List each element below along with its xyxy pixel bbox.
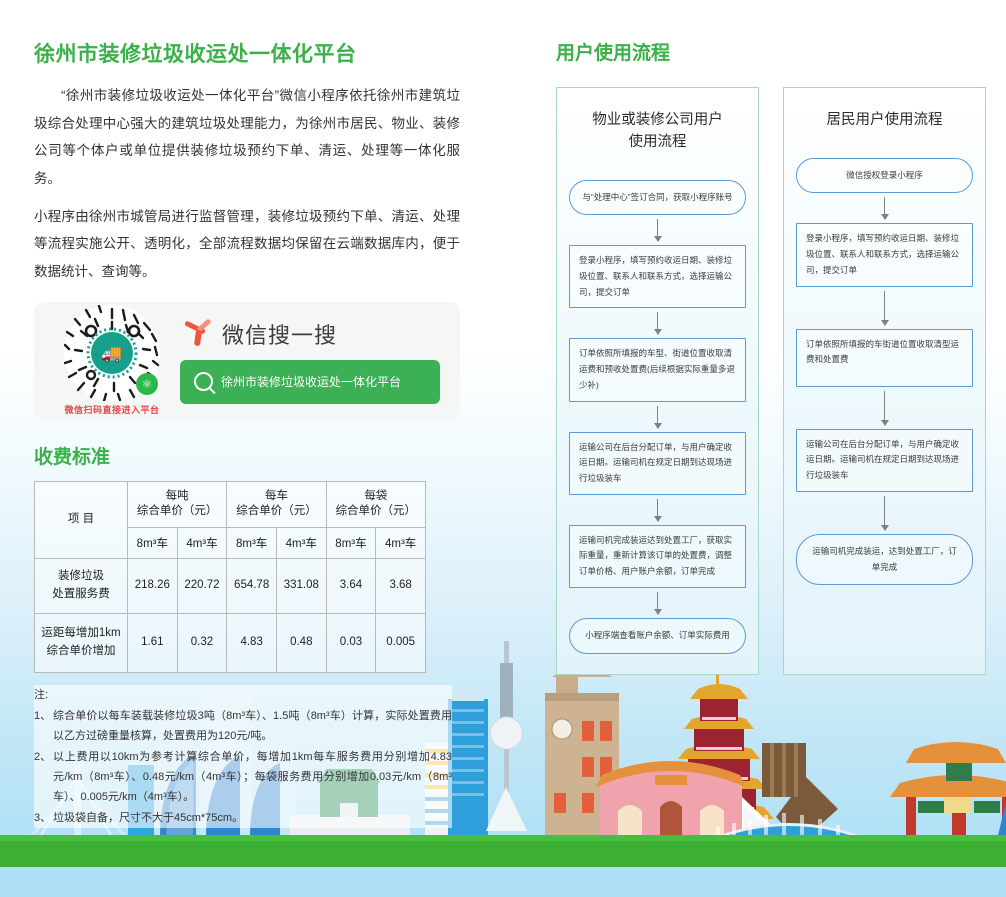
flow-arrow-icon [569,308,746,338]
clock-tower [545,655,619,837]
row-label-1-l1: 运距每增加1km [37,625,125,642]
fee-table: 项 目 每吨 综合单价（元） 每车 综合单价（元） 每袋 综合单价（元） 8m³… [34,481,426,673]
qr-caption: 微信扫码直接进入平台 [64,403,159,416]
wechat-qr-code[interactable]: 🚚 ⚛ [64,305,160,401]
flow-panels: 物业或装修公司用户 使用流程 与“处理中心”签订合同，获取小程序账号 登录小程序… [556,87,986,675]
sub-2-0: 8m³车 [326,527,376,558]
cell-1-5: 0.005 [376,613,426,672]
table-header-row: 项 目 每吨 综合单价（元） 每车 综合单价（元） 每袋 综合单价（元） [35,481,426,527]
flow-node-resident-2[interactable]: 登录小程序，填写预约收运日期、装修垃圾位置、联系人和联系方式，选择运输公司，提交… [796,223,973,286]
group-name-0: 每吨 [130,489,224,505]
header-group-per-ton: 每吨 综合单价（元） [128,481,227,527]
flow-arrow-icon [569,402,746,432]
note-item: 3、 垃圾袋自备，尺寸不大于45cm*75cm。 [34,808,452,828]
intro-paragraph-1: “徐州市装修垃圾收运处一体化平台”微信小程序依托徐州市建筑垃圾综合处理中心强大的… [34,82,460,193]
flow-node-company-2[interactable]: 登录小程序，填写预约收运日期、装修垃圾位置、联系人和联系方式，选择运输公司，提交… [569,245,746,308]
header-group-per-bag: 每袋 综合单价（元） [326,481,425,527]
table-row: 装修垃圾 处置服务费 218.26 220.72 654.78 331.08 3… [35,558,426,613]
wechat-brand-label: 微信搜一搜 [222,318,337,350]
wechat-search-query: 徐州市装修垃圾收运处一体化平台 [221,373,401,390]
note-number-1: 1、 [34,706,53,747]
qr-block: 🚚 ⚛ 微信扫码直接进入平台 [48,305,176,416]
flow-node-resident-5[interactable]: 运输司机完成装运，达到处置工厂，订单完成 [796,534,973,585]
sub-1-0: 8m³车 [227,527,277,558]
sub-2-1: 4m³车 [376,527,426,558]
note-number-3: 3、 [34,808,53,828]
flow-arrow-icon [569,495,746,525]
sub-1-1: 4m³车 [276,527,326,558]
row-label-0-l1: 装修垃圾 [37,568,125,585]
sub-0-0: 8m³车 [128,527,178,558]
table-row: 运距每增加1km 综合单价增加 1.61 0.32 4.83 0.48 0.03… [35,613,426,672]
notes-heading: 注: [34,685,452,705]
flow-node-resident-3[interactable]: 订单依照所填报的车街道位置收取清型运费和处置费 [796,329,973,387]
cell-1-2: 4.83 [227,613,277,672]
flow-node-company-4[interactable]: 运输公司在后台分配订单，与用户确定收运日期。运输司机在规定日期到达现场进行垃圾装… [569,432,746,495]
flow-panel-company: 物业或装修公司用户 使用流程 与“处理中心”签订合同，获取小程序账号 登录小程序… [556,87,759,675]
note-item: 1、 综合单价以每车装载装修垃圾3吨（8m³车）、1.5吨（8m³车）计算，实际… [34,706,452,747]
pagoda [664,655,774,837]
flow-arrow-icon [569,588,746,618]
flow-panel-company-title-l1: 物业或装修公司用户 [569,110,746,132]
flow-arrow-icon [796,287,973,329]
row-label-0: 装修垃圾 处置服务费 [35,558,128,613]
header-item-label: 项 目 [68,513,94,525]
cell-1-1: 0.32 [177,613,227,672]
cell-0-2: 654.78 [227,558,277,613]
group-unit-1: 综合单价（元） [229,504,323,520]
flow-panel-resident-title-l1: 居民用户使用流程 [796,110,973,132]
wechat-entry-card: 🚚 ⚛ 微信扫码直接进入平台 微信搜一搜 徐州市装修垃圾收运处一体化平台 [34,302,460,420]
flow-node-resident-4[interactable]: 运输公司在后台分配订单，与用户确定收运日期。运输司机在规定日期到达现场进行垃圾装… [796,429,973,492]
stadium [996,803,1006,843]
flow-node-company-1[interactable]: 与“处理中心”签订合同，获取小程序账号 [569,180,746,216]
note-item: 2、 以上费用以10km为参考计算综合单价，每增加1km每车服务费用分别增加4.… [34,747,452,808]
wechat-sousou-icon [184,321,214,347]
cell-1-4: 0.03 [326,613,376,672]
wechat-search-block: 微信搜一搜 徐州市装修垃圾收运处一体化平台 [176,318,454,404]
tv-tower [486,641,527,831]
cell-0-4: 3.64 [326,558,376,613]
group-unit-0: 综合单价（元） [130,504,224,520]
flow-panel-resident-title: 居民用户使用流程 [796,110,973,132]
paifang-gate [890,742,1006,843]
flow-arrow-icon [796,492,973,534]
search-icon [194,372,213,391]
flow-node-resident-1[interactable]: 微信授权登录小程序 [796,158,973,194]
group-name-2: 每袋 [329,489,423,505]
cell-0-1: 220.72 [177,558,227,613]
group-name-1: 每车 [229,489,323,505]
header-item: 项 目 [35,481,128,558]
note-text-2: 以上费用以10km为参考计算综合单价，每增加1km每车服务费用分别增加4.83元… [53,747,452,808]
row-label-0-l2: 处置服务费 [37,586,125,603]
flow-node-company-3[interactable]: 订单依照所填报的车型、街道位置收取清运费和预收处置费(后续根据实际重量多退少补) [569,338,746,401]
left-column: 徐州市装修垃圾收运处一体化平台 “徐州市装修垃圾收运处一体化平台”微信小程序依托… [34,38,460,828]
station [700,813,878,843]
header-group-per-vehicle: 每车 综合单价（元） [227,481,326,527]
row-label-1: 运距每增加1km 综合单价增加 [35,613,128,672]
flow-section-title: 用户使用流程 [556,38,986,65]
row-label-1-l2: 综合单价增加 [37,643,125,660]
wechat-search-button[interactable]: 徐州市装修垃圾收运处一体化平台 [180,360,440,404]
ground-strip [0,835,1006,867]
poster-root: 徐州市装修垃圾收运处一体化平台 “徐州市装修垃圾收运处一体化平台”微信小程序依托… [0,0,1006,897]
note-number-2: 2、 [34,747,53,808]
fee-section-title: 收费标准 [34,442,460,469]
intro-paragraph-2: 小程序由徐州市城管局进行监督管理，装修垃圾预约下单、清运、处理等流程实施公开、透… [34,203,460,286]
flow-arrow-icon [796,193,973,223]
flow-node-company-5[interactable]: 运输司机完成装运达到处置工厂，获取实际重量，重新计算该订单的处置费，调整订单价格… [569,525,746,588]
page-title: 徐州市装修垃圾收运处一体化平台 [34,38,460,68]
cell-0-3: 331.08 [276,558,326,613]
flow-panel-company-title-l2: 使用流程 [569,132,746,154]
cell-0-0: 218.26 [128,558,178,613]
flow-panel-resident: 居民用户使用流程 微信授权登录小程序 登录小程序，填写预约收运日期、装修垃圾位置… [783,87,986,675]
cell-1-3: 0.48 [276,613,326,672]
pink-hall [596,761,746,837]
group-unit-2: 综合单价（元） [329,504,423,520]
note-text-1: 综合单价以每车装载装修垃圾3吨（8m³车）、1.5吨（8m³车）计算，实际处置费… [53,706,452,747]
flow-arrow-icon [569,215,746,245]
wechat-brand: 微信搜一搜 [184,318,337,350]
flow-arrow-icon [796,387,973,429]
flow-node-company-6[interactable]: 小程序端查看账户余额、订单实际费用 [569,618,746,654]
note-text-3: 垃圾袋自备，尺寸不大于45cm*75cm。 [53,808,452,828]
truck-icon: 🚚 [91,332,133,374]
monument [742,743,838,843]
flow-panel-company-title: 物业或装修公司用户 使用流程 [569,110,746,154]
sub-0-1: 4m³车 [177,527,227,558]
right-column: 用户使用流程 物业或装修公司用户 使用流程 与“处理中心”签订合同，获取小程序账… [556,38,986,675]
cell-1-0: 1.61 [128,613,178,672]
fee-notes: 注: 1、 综合单价以每车装载装修垃圾3吨（8m³车）、1.5吨（8m³车）计算… [34,685,452,828]
cell-0-5: 3.68 [376,558,426,613]
